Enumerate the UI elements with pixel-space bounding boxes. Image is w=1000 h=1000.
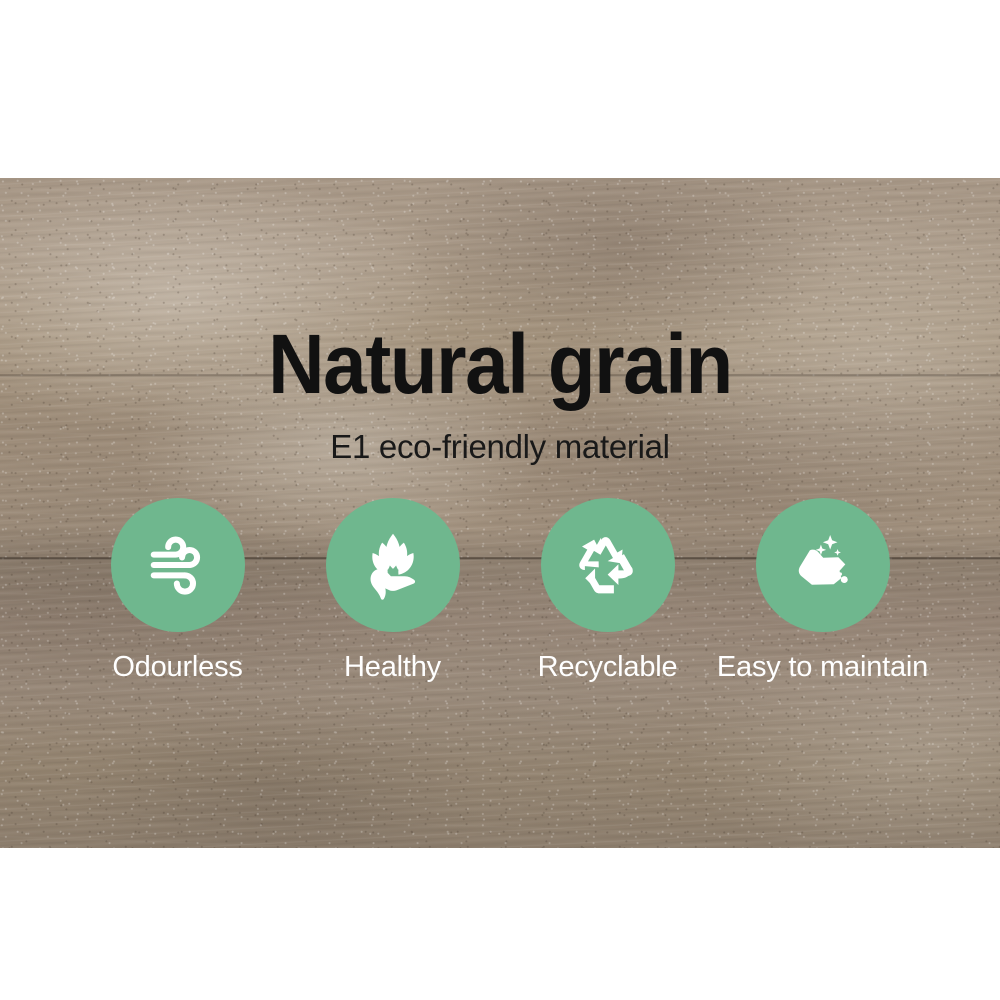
feature-item-recyclable: Recyclable [500, 498, 715, 684]
headline-block: Natural grain E1 eco-friendly material [0, 322, 1000, 463]
product-feature-banner: Natural grain E1 eco-friendly material O… [0, 0, 1000, 1000]
wind-icon [141, 528, 215, 602]
feature-label: Healthy [344, 652, 441, 684]
feature-item-easy-to-maintain: Easy to maintain [715, 498, 930, 684]
feature-icon-badge [541, 498, 675, 632]
feature-label: Recyclable [538, 652, 678, 684]
wipe-clean-icon [786, 528, 860, 602]
feature-label: Easy to maintain [717, 652, 928, 684]
page-title: Natural grain [35, 322, 965, 406]
feature-icon-badge [326, 498, 460, 632]
feature-icon-badge [756, 498, 890, 632]
plant-hand-icon [356, 528, 430, 602]
feature-icon-badge [111, 498, 245, 632]
recycle-icon [571, 528, 645, 602]
feature-item-healthy: Healthy [285, 498, 500, 684]
page-subtitle: E1 eco-friendly material [0, 430, 1000, 463]
feature-item-odourless: Odourless [70, 498, 285, 684]
feature-label: Odourless [112, 652, 242, 684]
feature-list: Odourless [70, 498, 930, 684]
